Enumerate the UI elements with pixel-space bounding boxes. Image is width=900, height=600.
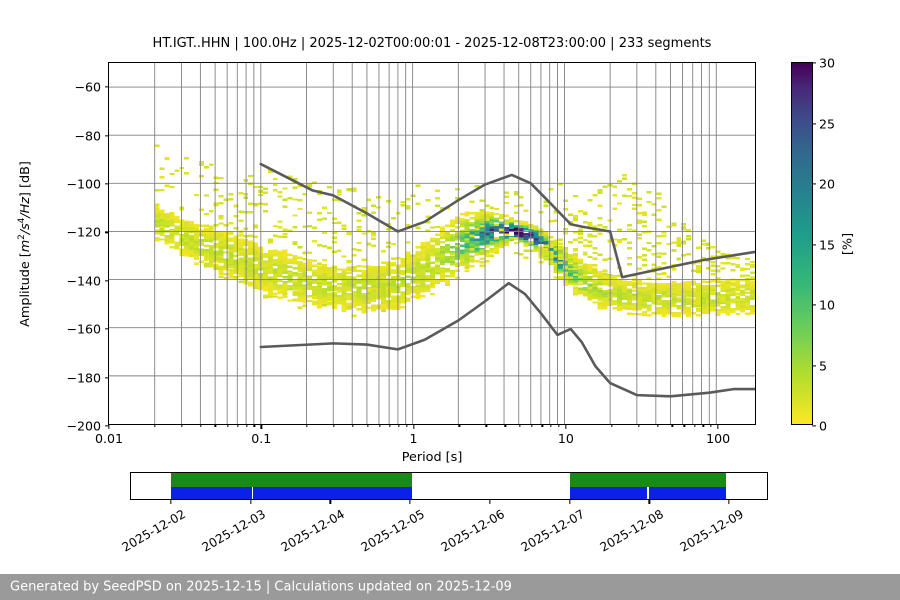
x-tick-mark	[672, 424, 673, 427]
x-tick-label: 1	[410, 431, 418, 446]
x-tick-mark	[181, 424, 182, 427]
x-tick-mark	[486, 424, 487, 427]
timeline-tick-mark	[409, 499, 410, 504]
timeline-date-label: 2025-12-09	[678, 507, 746, 555]
colorbar-tick-label: 10	[819, 298, 835, 313]
x-tick-mark	[237, 424, 238, 427]
timeline-date-label: 2025-12-04	[279, 507, 347, 555]
x-tick-label: 100	[706, 431, 730, 446]
x-tick-mark	[657, 424, 658, 427]
colorbar-tick-label: 25	[819, 116, 835, 131]
timeline-date-label: 2025-12-06	[439, 507, 507, 555]
colorbar[interactable]: 051015202530 [%]	[791, 62, 813, 425]
y-tick-mark	[105, 329, 109, 330]
x-tick-mark	[367, 424, 368, 427]
x-tick-mark	[413, 424, 414, 429]
x-tick-mark	[215, 424, 216, 427]
x-tick-mark	[227, 424, 228, 427]
x-tick-mark	[519, 424, 520, 427]
x-tick-mark	[558, 424, 559, 427]
x-tick-mark	[306, 424, 307, 427]
x-tick-mark	[711, 424, 712, 427]
data-coverage-band	[570, 473, 726, 487]
x-tick-mark	[261, 424, 262, 429]
colorbar-tick-mark	[812, 425, 816, 426]
x-tick-mark	[154, 424, 155, 427]
x-tick-mark	[611, 424, 612, 427]
footer-bar: Generated by SeedPSD on 2025-12-15 | Cal…	[0, 574, 900, 600]
colorbar-tick-label: 5	[819, 358, 827, 373]
x-axis-label: Period [s]	[402, 450, 463, 465]
timeline-tick-mark	[649, 499, 650, 504]
y-tick-label: −60	[74, 80, 101, 95]
colorbar-tick-mark	[812, 304, 816, 305]
colorbar-tick-mark	[812, 183, 816, 184]
y-tick-label: −100	[66, 177, 101, 192]
timeline-tick-mark	[569, 499, 570, 504]
psd-coverage-band	[171, 487, 252, 499]
colorbar-tick-mark	[812, 62, 816, 63]
y-tick-mark	[105, 135, 109, 136]
x-tick-mark	[246, 424, 247, 427]
x-tick-mark	[694, 424, 695, 427]
page-title: HT.IGT..HHN | 100.0Hz | 2025-12-02T00:00…	[108, 36, 756, 51]
plot-area	[109, 63, 755, 424]
colorbar-tick-label: 0	[819, 419, 827, 434]
timeline-tick-mark	[728, 499, 729, 504]
colorbar-tick-label: 15	[819, 237, 835, 252]
x-tick-mark	[531, 424, 532, 427]
x-tick-mark	[505, 424, 506, 427]
colorbar-tick-mark	[812, 244, 816, 245]
x-tick-mark	[398, 424, 399, 427]
x-tick-mark	[565, 424, 566, 429]
x-tick-mark	[550, 424, 551, 427]
colorbar-label: [%]	[841, 232, 856, 254]
x-tick-mark	[352, 424, 353, 427]
figure-canvas: HT.IGT..HHN | 100.0Hz | 2025-12-02T00:00…	[0, 0, 900, 600]
x-tick-mark	[703, 424, 704, 427]
x-tick-mark	[389, 424, 390, 427]
y-axis-label: Amplitude [m2/s4/Hz] [dB]	[17, 161, 33, 327]
colorbar-tick-mark	[812, 123, 816, 124]
x-tick-mark	[200, 424, 201, 427]
timeline-tick-mark	[330, 499, 331, 504]
x-tick-mark	[684, 424, 685, 427]
timeline-date-label: 2025-12-08	[598, 507, 666, 555]
x-tick-label: 10	[558, 431, 574, 446]
x-tick-mark	[542, 424, 543, 427]
y-tick-mark	[105, 280, 109, 281]
coverage-timeline-axes[interactable]: 2025-12-022025-12-032025-12-042025-12-05…	[130, 472, 768, 500]
y-tick-mark	[105, 183, 109, 184]
y-tick-mark	[105, 87, 109, 88]
x-tick-mark	[108, 424, 109, 429]
psd-coverage-band	[649, 487, 726, 499]
x-tick-mark	[406, 424, 407, 427]
timeline-tick-mark	[250, 499, 251, 504]
footer-text: Generated by SeedPSD on 2025-12-15 | Cal…	[10, 580, 512, 595]
x-tick-mark	[379, 424, 380, 427]
data-coverage-band	[171, 473, 412, 487]
x-tick-mark	[333, 424, 334, 427]
x-tick-mark	[638, 424, 639, 427]
y-tick-mark	[105, 377, 109, 378]
timeline-date-label: 2025-12-02	[120, 507, 188, 555]
y-tick-label: −140	[66, 273, 101, 288]
x-tick-mark	[717, 424, 718, 429]
colorbar-tick-mark	[812, 365, 816, 366]
coverage-bands	[131, 473, 767, 499]
colorbar-tick-label: 30	[819, 56, 835, 71]
y-tick-label: −120	[66, 225, 101, 240]
timeline-date-label: 2025-12-07	[518, 507, 586, 555]
y-tick-label: −80	[74, 128, 101, 143]
y-tick-label: −160	[66, 322, 101, 337]
x-tick-mark	[254, 424, 255, 427]
psd-coverage-band	[253, 487, 411, 499]
timeline-date-label: 2025-12-05	[359, 507, 427, 555]
x-tick-mark	[459, 424, 460, 427]
y-tick-mark	[105, 232, 109, 233]
x-tick-label: 0.01	[95, 431, 123, 446]
timeline-tick-mark	[170, 499, 171, 504]
noise-model-curves-layer	[109, 63, 755, 424]
colorbar-tick-label: 20	[819, 177, 835, 192]
timeline-tick-mark	[489, 499, 490, 504]
timeline-date-label: 2025-12-03	[199, 507, 267, 555]
y-tick-label: −180	[66, 370, 101, 385]
x-tick-label: 0.1	[251, 431, 271, 446]
ppsd-plot-axes[interactable]: −60−80−100−120−140−160−180−200 0.010.111…	[108, 62, 756, 425]
psd-coverage-band	[570, 487, 648, 499]
